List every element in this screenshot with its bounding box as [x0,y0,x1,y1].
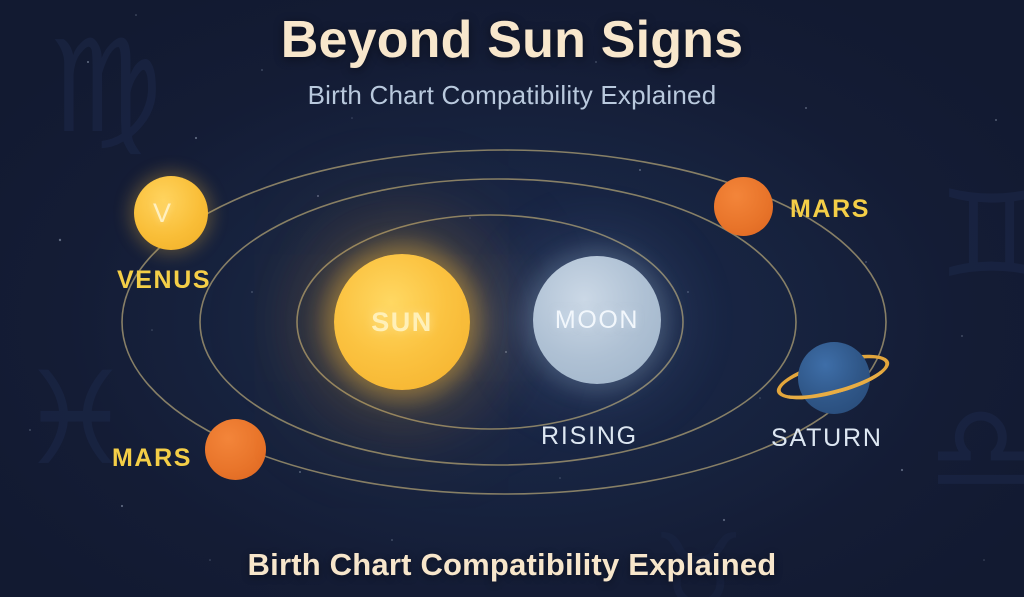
page-subtitle: Birth Chart Compatibility Explained [0,80,1024,111]
mars-planet-bottom[interactable] [205,419,266,480]
title-block: Beyond Sun Signs Birth Chart Compatibili… [0,10,1024,111]
mars-label-top: MARS [790,195,870,224]
venus-glyph-icon: V [153,198,171,229]
footer-caption: Birth Chart Compatibility Explained [0,547,1024,583]
page-title: Beyond Sun Signs [0,10,1024,70]
saturn-label: SATURN [771,424,883,453]
infographic-poster: ♍ ♓ ♊ ♎ ♉ [0,0,1024,597]
venus-planet[interactable]: V [134,176,208,250]
orbit-ring-middle [200,179,796,465]
saturn-planet[interactable] [772,334,894,426]
moon-label: MOON [555,306,639,335]
sun-label: SUN [371,307,433,338]
moon-planet[interactable]: MOON [533,256,661,384]
venus-label: VENUS [117,266,211,295]
mars-label-bottom: MARS [112,444,192,473]
rising-label: RISING [541,422,638,451]
mars-planet-top[interactable] [714,177,773,236]
sun-planet[interactable]: SUN [334,254,470,390]
